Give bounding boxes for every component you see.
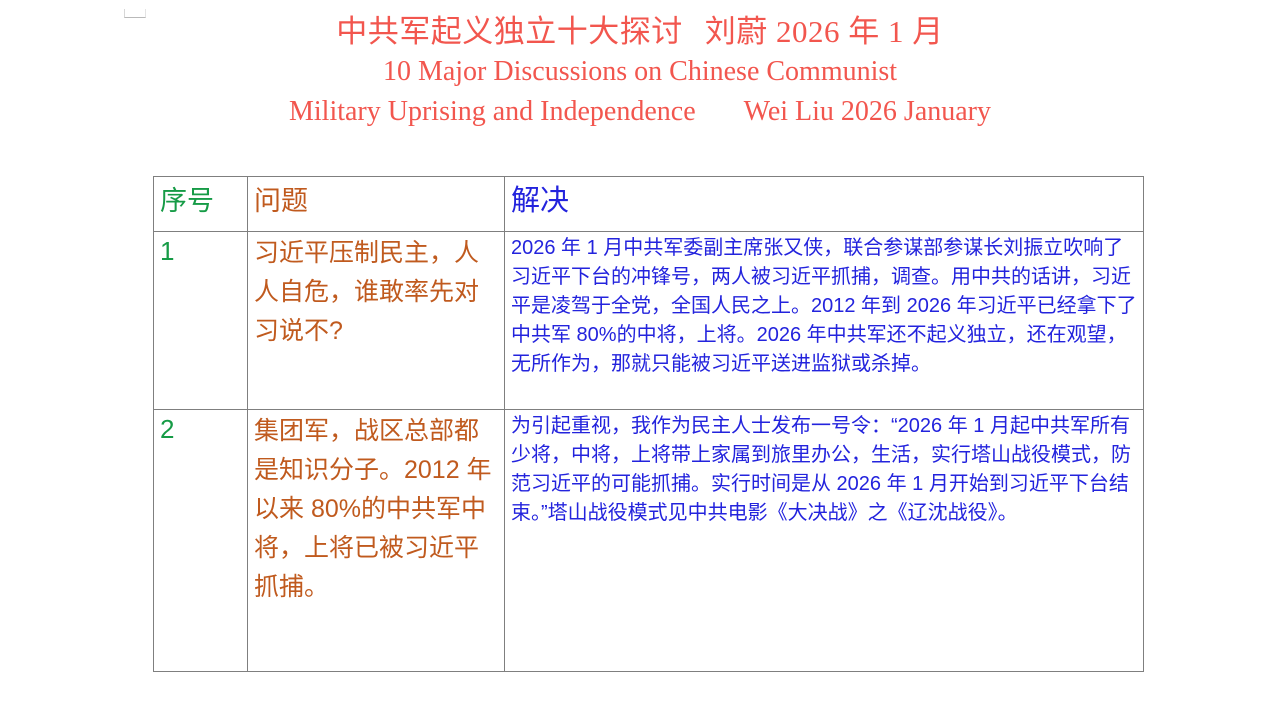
title-english-author: Wei Liu 2026 January xyxy=(744,96,991,127)
column-header-number: 序号 xyxy=(154,177,248,232)
row-problem-text: 习近平压制民主，人人自危，谁敢率先对习说不? xyxy=(248,232,505,410)
row-solution-text: 2026 年 1 月中共军委副主席张又侠，联合参谋部参谋长刘振立吹响了习近平下台… xyxy=(505,232,1144,410)
row-solution-text: 为引起重视，我作为民主人士发布一号令：“2026 年 1 月起中共军所有少将，中… xyxy=(505,410,1144,672)
table-row: 1 习近平压制民主，人人自危，谁敢率先对习说不? 2026 年 1 月中共军委副… xyxy=(154,232,1144,410)
row-problem-text: 集团军，战区总部都是知识分子。2012 年以来 80%的中共军中将，上将已被习近… xyxy=(248,410,505,672)
column-header-problem: 问题 xyxy=(248,177,505,232)
title-line-chinese: 中共军起义独立十大探讨刘蔚 2026 年 1 月 xyxy=(140,12,1140,52)
table-row: 2 集团军，战区总部都是知识分子。2012 年以来 80%的中共军中将，上将已被… xyxy=(154,410,1144,672)
page-title: 中共军起义独立十大探讨刘蔚 2026 年 1 月 10 Major Discus… xyxy=(140,12,1140,132)
title-english-2-text: Military Uprising and Independence xyxy=(289,96,696,127)
column-header-solution: 解决 xyxy=(505,177,1144,232)
table-header-row: 序号 问题 解决 xyxy=(154,177,1144,232)
row-number: 2 xyxy=(154,410,248,672)
title-chinese-main: 中共军起义独立十大探讨 xyxy=(336,14,683,49)
slide-canvas: 中共军起义独立十大探讨刘蔚 2026 年 1 月 10 Major Discus… xyxy=(0,0,1280,720)
title-line-english-1: 10 Major Discussions on Chinese Communis… xyxy=(140,52,1140,92)
discussions-table: 序号 问题 解决 1 习近平压制民主，人人自危，谁敢率先对习说不? 2026 年… xyxy=(153,176,1144,672)
title-line-english-2: Military Uprising and IndependenceWei Li… xyxy=(140,92,1140,132)
title-chinese-author: 刘蔚 2026 年 1 月 xyxy=(705,14,944,49)
row-number: 1 xyxy=(154,232,248,410)
